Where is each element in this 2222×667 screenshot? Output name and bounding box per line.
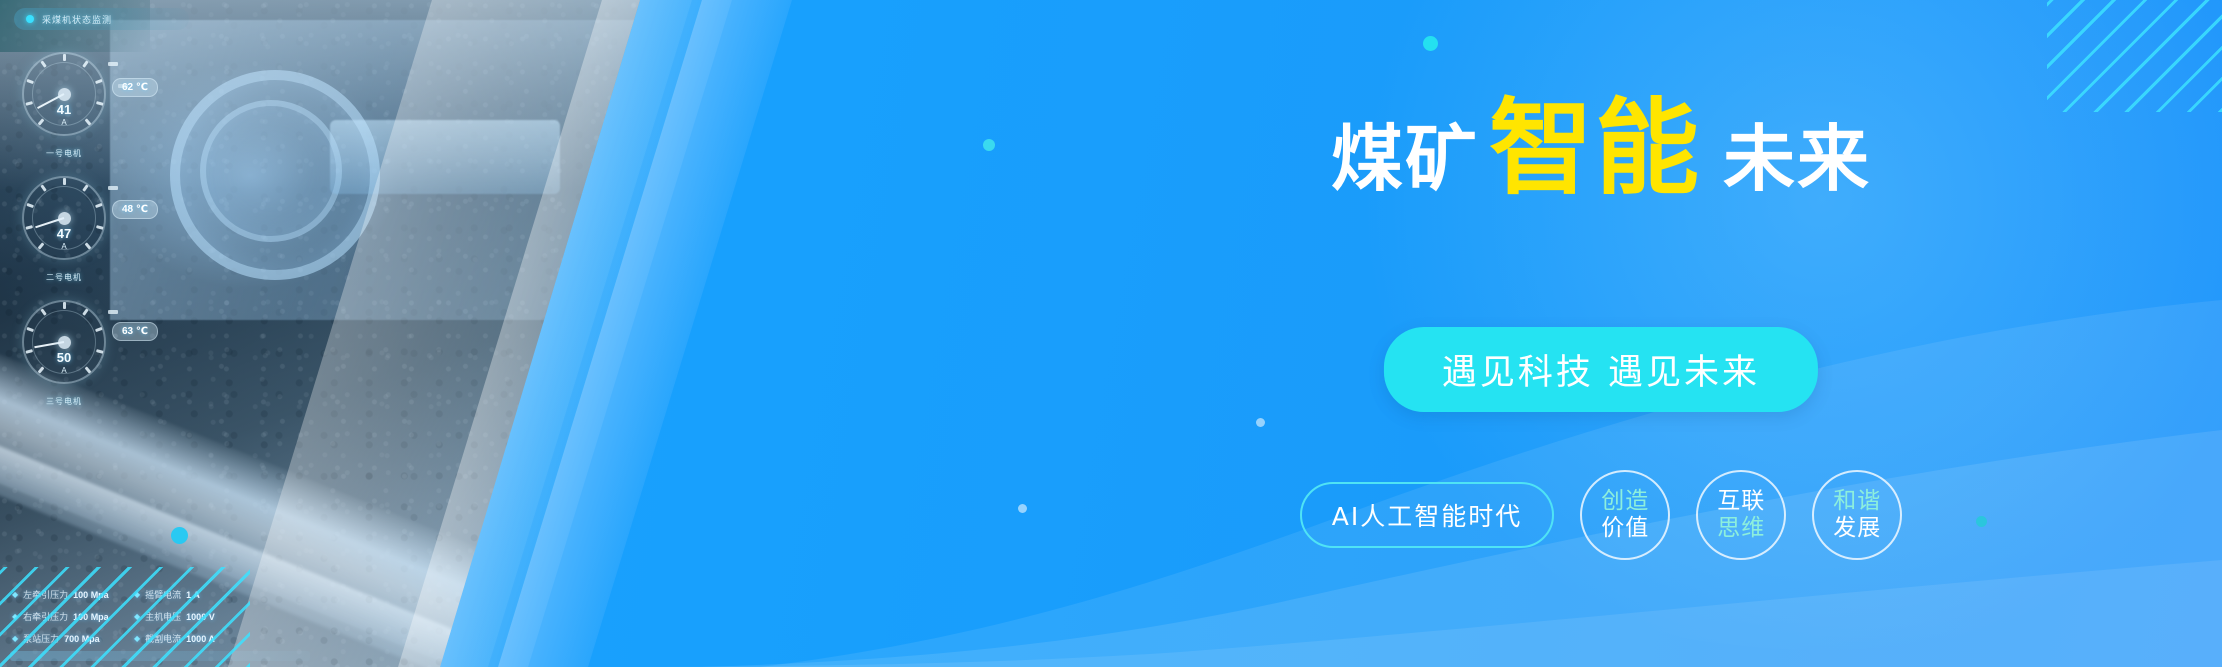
tag-circle-line1: 互联 bbox=[1717, 489, 1765, 514]
decorative-dot bbox=[1018, 504, 1027, 513]
decorative-dot bbox=[171, 527, 188, 544]
title-part-3: 未来 bbox=[1723, 117, 1871, 201]
title-part-1: 煤矿 bbox=[1331, 117, 1479, 201]
tag-circle-harmonious-development[interactable]: 和谐 发展 bbox=[1812, 470, 1902, 560]
hatch-decoration-bottom-left bbox=[0, 567, 250, 667]
tag-circle-line2: 发展 bbox=[1833, 516, 1881, 541]
title-part-2-highlight: 智能 bbox=[1489, 87, 1701, 209]
tag-circle-line1: 创造 bbox=[1601, 489, 1649, 514]
decorative-dot bbox=[983, 139, 995, 151]
tag-pill-ai[interactable]: AI人工智能时代 bbox=[1300, 482, 1554, 548]
tag-circle-line1: 和谐 bbox=[1833, 489, 1881, 514]
tag-circle-connected-thinking[interactable]: 互联 思维 bbox=[1696, 470, 1786, 560]
subtitle-text: 遇见科技 遇见未来 bbox=[1442, 353, 1760, 393]
tag-circle-line2: 价值 bbox=[1601, 516, 1649, 541]
banner-content: 煤矿智能未来 遇见科技 遇见未来 AI人工智能时代 创造 价值 互联 思维 和谐… bbox=[1100, 0, 2222, 667]
tag-circle-line2: 思维 bbox=[1717, 516, 1765, 541]
hero-banner: 采煤机状态监测 41 A 一号电机 62 ℃ bbox=[0, 0, 2222, 667]
tag-circle-create-value[interactable]: 创造 价值 bbox=[1580, 470, 1670, 560]
subtitle-pill: 遇见科技 遇见未来 bbox=[1384, 327, 1818, 412]
tag-row: AI人工智能时代 创造 价值 互联 思维 和谐 发展 bbox=[1100, 470, 2102, 560]
page-title: 煤矿智能未来 bbox=[1100, 96, 2102, 200]
